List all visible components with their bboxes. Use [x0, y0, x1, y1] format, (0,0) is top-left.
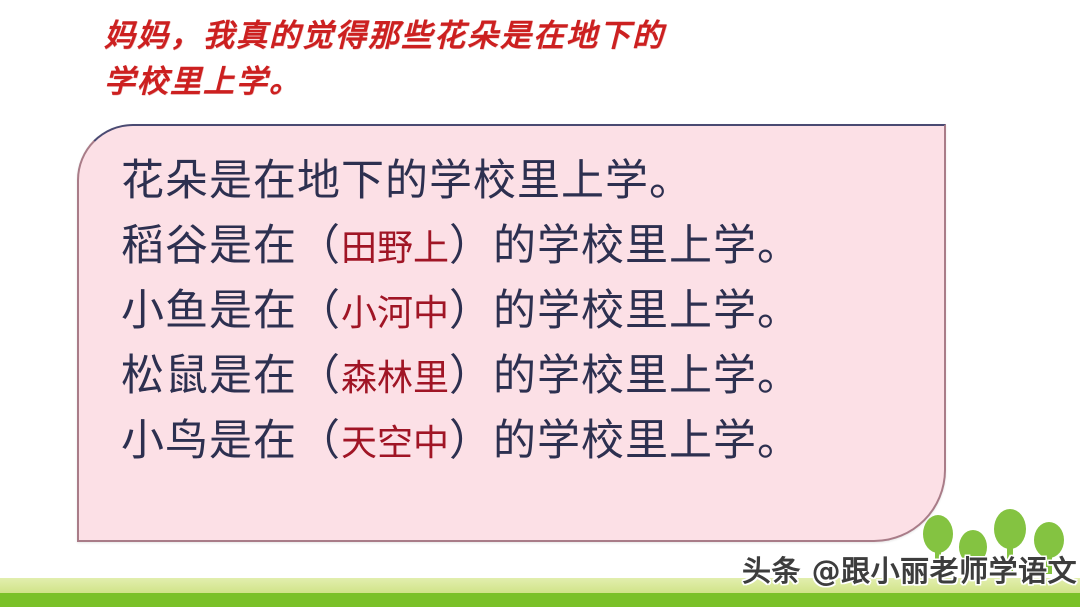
answer-panel: 花朵是在地下的学校里上学。 稻谷是在（田野上）的学校里上学。 小鱼是在（小河中）… — [77, 124, 946, 542]
sentence-prefix: 稻谷是在（ — [121, 221, 341, 271]
sentence-line: 松鼠是在（森林里）的学校里上学。 — [121, 345, 932, 410]
tree-crown-icon — [994, 509, 1026, 549]
sentence-suffix: ）的学校里上学。 — [449, 416, 801, 466]
sentence-suffix: ）的学校里上学。 — [449, 221, 801, 271]
sentence-prefix: 小鱼是在（ — [121, 286, 341, 336]
slide-canvas: 妈妈，我真的觉得那些花朵是在地下的 学校里上学。 花朵是在地下的学校里上学。 稻… — [0, 0, 1080, 607]
decor-band-dark — [0, 593, 1080, 607]
watermark-label: 头条 @跟小丽老师学语文 — [742, 548, 1077, 590]
sentence-answer: 小河中 — [341, 293, 449, 334]
sentence-suffix: ）的学校里上学。 — [449, 351, 801, 401]
sentence-answer: 天空中 — [341, 423, 449, 464]
sentence-line: 小鱼是在（小河中）的学校里上学。 — [121, 280, 932, 345]
sentence-prefix: 小鸟是在（ — [121, 416, 341, 466]
quote-text: 妈妈，我真的觉得那些花朵是在地下的 学校里上学。 — [104, 14, 944, 106]
sentence-prefix: 松鼠是在（ — [121, 351, 341, 401]
sentence-line: 小鸟是在（天空中）的学校里上学。 — [121, 410, 932, 475]
sentence-line: 花朵是在地下的学校里上学。 — [121, 150, 932, 215]
sentence-suffix: ）的学校里上学。 — [449, 286, 801, 336]
answer-panel-content: 花朵是在地下的学校里上学。 稻谷是在（田野上）的学校里上学。 小鱼是在（小河中）… — [121, 150, 932, 475]
sentence-answer: 田野上 — [341, 228, 449, 269]
sentence-line: 稻谷是在（田野上）的学校里上学。 — [121, 215, 932, 280]
sentence-prefix: 花朵是在地下的学校里上学。 — [121, 156, 693, 206]
sentence-answer: 森林里 — [341, 358, 449, 399]
